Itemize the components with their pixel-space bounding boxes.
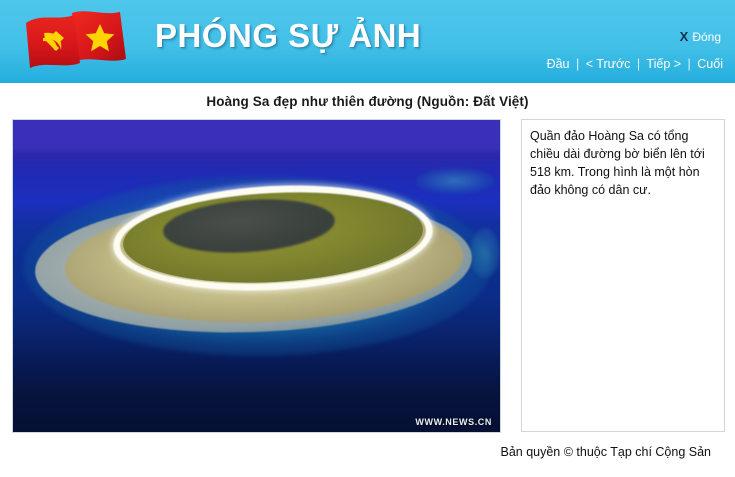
copyright-footer: Bản quyền © thuộc Tạp chí Cộng Sản <box>0 445 735 459</box>
photo-caption-title: Hoàng Sa đẹp như thiên đường (Nguồn: Đất… <box>0 83 735 109</box>
photo-frame[interactable]: WWW.NEWS.CN <box>12 119 501 433</box>
close-icon: X <box>680 29 689 44</box>
photo-navigation: Đầu | < Trước | Tiếp > | Cuối <box>547 57 723 71</box>
page-header: PHÓNG SỰ ẢNH XĐóng Đầu | < Trước | Tiếp … <box>0 0 735 83</box>
atoll-photo: WWW.NEWS.CN <box>13 120 500 432</box>
distant-reef-patch-2 <box>470 228 500 278</box>
caption-text: Quần đảo Hoàng Sa có tổng chiều dài đườn… <box>530 127 716 200</box>
nav-separator-1: | <box>573 57 582 71</box>
caption-panel: Quần đảo Hoàng Sa có tổng chiều dài đườn… <box>521 119 725 432</box>
photo-watermark: WWW.NEWS.CN <box>415 417 492 427</box>
close-label: Đóng <box>692 30 721 44</box>
close-button[interactable]: XĐóng <box>680 29 721 44</box>
nav-separator-3: | <box>685 57 694 71</box>
nav-first-link[interactable]: Đầu <box>547 57 570 71</box>
page-title: PHÓNG SỰ ẢNH <box>155 17 421 55</box>
nav-next-link[interactable]: Tiếp > <box>646 57 681 71</box>
content-area: WWW.NEWS.CN Quần đảo Hoàng Sa có tổng ch… <box>0 109 735 469</box>
nav-previous-link[interactable]: < Trước <box>586 57 631 71</box>
vietnam-communist-flags-icon <box>16 7 141 75</box>
distant-reef-patch <box>416 168 494 194</box>
nav-separator-2: | <box>634 57 643 71</box>
nav-last-link[interactable]: Cuối <box>697 57 723 71</box>
